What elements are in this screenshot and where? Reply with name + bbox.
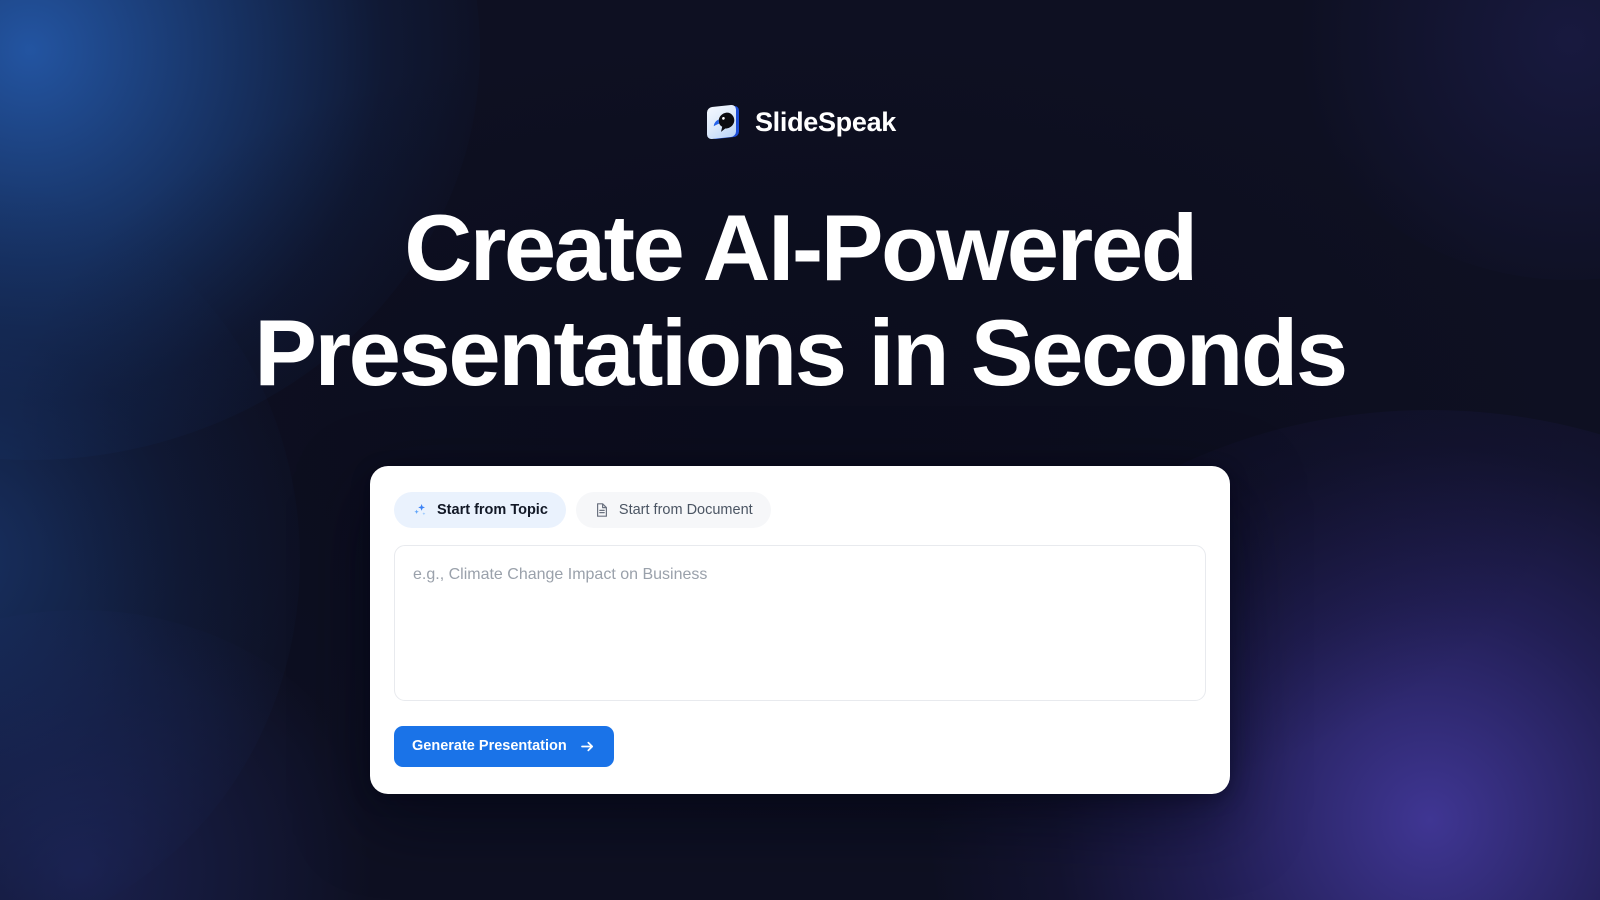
headline-line-2: Presentations in Seconds <box>254 300 1346 405</box>
generate-presentation-label: Generate Presentation <box>412 738 567 754</box>
tab-start-from-document-label: Start from Document <box>619 502 753 518</box>
landing-page: SlideSpeak Create AI-Powered Presentatio… <box>0 0 1600 900</box>
parrot-logo-icon <box>704 103 742 141</box>
logo-card-front <box>707 104 736 139</box>
page-title: Create AI-Powered Presentations in Secon… <box>254 195 1346 406</box>
tab-start-from-topic[interactable]: Start from Topic <box>394 492 566 528</box>
tab-start-from-document[interactable]: Start from Document <box>576 492 771 528</box>
tab-start-from-topic-label: Start from Topic <box>437 502 548 518</box>
document-icon <box>594 502 610 518</box>
composer-actions: Generate Presentation <box>394 726 1206 767</box>
presentation-composer-card: Start from Topic Start from Document Gen… <box>370 466 1230 794</box>
generate-presentation-button[interactable]: Generate Presentation <box>394 726 614 767</box>
sparkles-icon <box>412 502 428 518</box>
brand-name: SlideSpeak <box>755 109 896 136</box>
brand-header[interactable]: SlideSpeak <box>704 103 896 141</box>
topic-input[interactable] <box>394 545 1206 701</box>
headline-line-1: Create AI-Powered <box>254 195 1346 300</box>
composer-tabs: Start from Topic Start from Document <box>394 492 1206 528</box>
arrow-right-icon <box>579 738 596 755</box>
